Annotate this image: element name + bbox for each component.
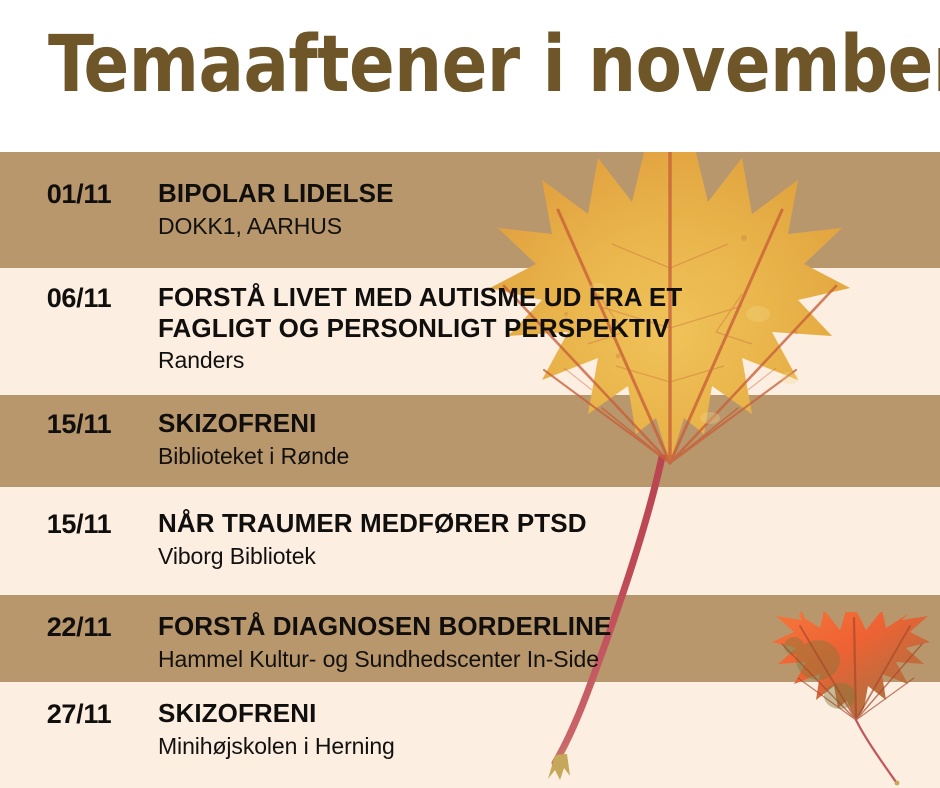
event-details: BIPOLAR LIDELSE DOKK1, AARHUS: [158, 178, 940, 240]
event-row-1: 01/11 BIPOLAR LIDELSE DOKK1, AARHUS: [0, 178, 940, 240]
event-date: 01/11: [0, 178, 158, 210]
event-location: DOKK1, AARHUS: [158, 212, 940, 241]
event-date: 22/11: [0, 611, 158, 643]
event-location: Randers: [158, 346, 940, 375]
event-row-4: 15/11 NÅR TRAUMER MEDFØRER PTSD Viborg B…: [0, 508, 940, 570]
event-details: SKIZOFRENI Minihøjskolen i Herning: [158, 698, 940, 760]
event-date: 15/11: [0, 508, 158, 540]
event-date: 27/11: [0, 698, 158, 730]
event-row-2: 06/11 FORSTÅ LIVET MED AUTISME UD FRA ET…: [0, 282, 940, 375]
event-title: SKIZOFRENI: [158, 698, 940, 729]
event-row-6: 27/11 SKIZOFRENI Minihøjskolen i Herning: [0, 698, 940, 760]
poster-canvas: Temaaftener i november 01/11 BIPOLAR LID…: [0, 0, 940, 788]
event-date: 06/11: [0, 282, 158, 314]
event-location: Hammel Kultur- og Sundhedscenter In-Side: [158, 645, 940, 674]
event-details: FORSTÅ DIAGNOSEN BORDERLINE Hammel Kultu…: [158, 611, 940, 673]
event-details: NÅR TRAUMER MEDFØRER PTSD Viborg Bibliot…: [158, 508, 940, 570]
poster-header: Temaaftener i november: [0, 0, 940, 152]
event-title: SKIZOFRENI: [158, 408, 940, 439]
event-location: Minihøjskolen i Herning: [158, 732, 940, 761]
event-location: Biblioteket i Rønde: [158, 442, 940, 471]
event-date: 15/11: [0, 408, 158, 440]
event-row-5: 22/11 FORSTÅ DIAGNOSEN BORDERLINE Hammel…: [0, 611, 940, 673]
event-details: FORSTÅ LIVET MED AUTISME UD FRA ET FAGLI…: [158, 282, 940, 375]
event-title: NÅR TRAUMER MEDFØRER PTSD: [158, 508, 940, 539]
event-title: BIPOLAR LIDELSE: [158, 178, 940, 209]
page-title: Temaaftener i november: [48, 26, 940, 104]
event-details: SKIZOFRENI Biblioteket i Rønde: [158, 408, 940, 470]
event-row-3: 15/11 SKIZOFRENI Biblioteket i Rønde: [0, 408, 940, 470]
event-location: Viborg Bibliotek: [158, 542, 940, 571]
event-title: FORSTÅ LIVET MED AUTISME UD FRA ET FAGLI…: [158, 282, 940, 343]
event-title: FORSTÅ DIAGNOSEN BORDERLINE: [158, 611, 940, 642]
